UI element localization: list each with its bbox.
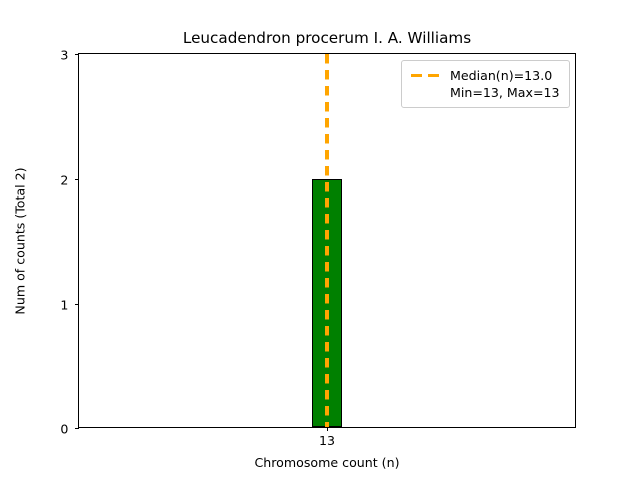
ytick-label-1: 1 (60, 299, 68, 312)
chart-legend[interactable]: Median(n)=13.0 Min=13, Max=13 (401, 60, 570, 108)
ytick-label-2: 2 (60, 174, 68, 187)
legend-minmax-label: Min=13, Max=13 (450, 84, 560, 101)
ytick-label-0: 0 (60, 423, 68, 436)
ytick-label-3: 3 (60, 49, 68, 62)
plot-area (79, 54, 575, 427)
ytick-mark-2: 2 (75, 179, 79, 180)
legend-dashed-line-icon (410, 68, 442, 84)
ytick-mark-3: 3 (75, 54, 79, 55)
ytick-mark-1: 1 (75, 304, 79, 305)
plot-axes: 3 2 1 0 13 Median(n)=13.0 Min=13, Max=13 (78, 53, 576, 428)
y-axis-label: Num of counts (Total 2) (11, 167, 30, 314)
y-axis-label-container: Num of counts (Total 2) (0, 53, 40, 428)
ytick-mark-0: 0 (75, 428, 79, 429)
xtick-label-13: 13 (319, 434, 335, 448)
xtick-mark-13 (327, 427, 328, 431)
page-title: Leucadendron procerum I. A. Williams (0, 29, 640, 47)
x-axis-label: Chromosome count (n) (78, 455, 576, 470)
matplotlib-figure: Leucadendron procerum I. A. Williams 3 2… (0, 0, 640, 480)
median-line (325, 54, 328, 427)
legend-median-label: Median(n)=13.0 (450, 67, 560, 84)
legend-entry-text: Median(n)=13.0 Min=13, Max=13 (450, 67, 560, 101)
